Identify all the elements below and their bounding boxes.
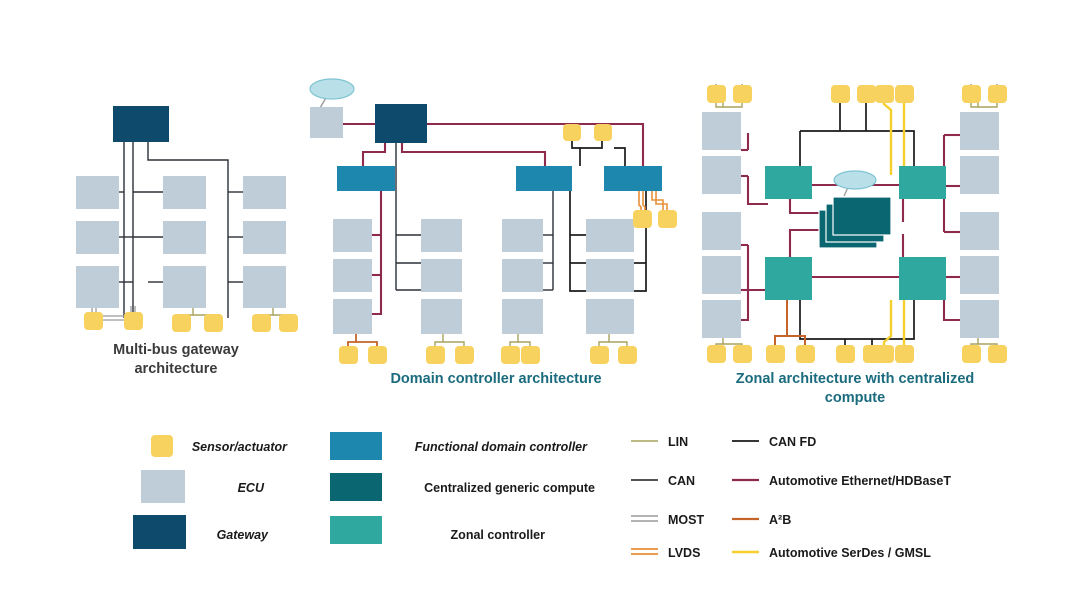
sensor-node[interactable] (339, 346, 358, 364)
panel-title-domain-controller: Domain controller architecture (390, 371, 601, 387)
legend-label-serdes: Automotive SerDes / GMSL (769, 546, 931, 560)
sensor-node[interactable] (172, 314, 191, 332)
legend-swatch-sensor (151, 435, 173, 457)
sensor-node[interactable] (988, 345, 1007, 363)
sensor-node[interactable] (836, 345, 855, 363)
ecu-node[interactable] (163, 176, 206, 209)
ecu-node[interactable] (502, 299, 543, 334)
ecu-node[interactable] (502, 259, 543, 292)
ecu-node[interactable] (243, 266, 286, 308)
ecu-node[interactable] (586, 219, 634, 252)
telematics-ecu-node[interactable] (310, 107, 343, 138)
sensor-node[interactable] (501, 346, 520, 364)
legend-label-can: CAN (668, 474, 695, 488)
zonal-controller-node[interactable] (899, 257, 946, 300)
compute-node-front (833, 197, 891, 235)
legend-label-canfd: CAN FD (769, 435, 816, 449)
sensor-node[interactable] (594, 124, 612, 141)
cloud-icon (834, 171, 876, 189)
sensor-node[interactable] (796, 345, 815, 363)
ecu-node[interactable] (960, 156, 999, 194)
sensor-node[interactable] (766, 345, 785, 363)
sensor-node[interactable] (124, 312, 143, 330)
panel-title-zonal-line1: Zonal architecture with centralized (736, 371, 975, 387)
sensor-node[interactable] (279, 314, 298, 332)
sensor-node[interactable] (962, 345, 981, 363)
ecu-node[interactable] (163, 221, 206, 254)
zonal-controller-node[interactable] (899, 166, 946, 199)
panel-title-multi-bus-line2: architecture (134, 361, 217, 377)
ecu-node[interactable] (702, 212, 741, 250)
zonal-controller-node[interactable] (765, 257, 812, 300)
sensor-node[interactable] (875, 345, 894, 363)
sensor-node[interactable] (368, 346, 387, 364)
ecu-node[interactable] (163, 266, 206, 308)
legend-label-lin: LIN (668, 435, 688, 449)
legend-label-gateway: Gateway (217, 528, 269, 542)
automotive-architecture-diagram: Multi-bus gateway architecture (0, 0, 1080, 607)
sensor-node[interactable] (733, 85, 752, 103)
zonal-controller-node[interactable] (765, 166, 812, 199)
centralized-compute-stack[interactable] (819, 197, 891, 248)
ecu-node[interactable] (333, 259, 372, 292)
panel-title-zonal-line2: compute (825, 390, 885, 406)
domain-controller-node[interactable] (337, 166, 395, 191)
ecu-grid-multi-bus (76, 176, 286, 308)
ecu-node[interactable] (960, 256, 999, 294)
sensor-node[interactable] (707, 345, 726, 363)
sensor-node[interactable] (563, 124, 581, 141)
legend-label-ecu: ECU (238, 481, 265, 495)
ecu-node[interactable] (333, 219, 372, 252)
ecu-node[interactable] (702, 256, 741, 294)
ecu-node[interactable] (960, 112, 999, 150)
sensor-node[interactable] (733, 345, 752, 363)
sensor-node[interactable] (895, 85, 914, 103)
legend-label-most: MOST (668, 513, 704, 527)
legend-swatch-domain-controller (330, 432, 382, 460)
sensor-node[interactable] (988, 85, 1007, 103)
sensor-node[interactable] (204, 314, 223, 332)
ecu-node[interactable] (76, 266, 119, 308)
ecu-node[interactable] (243, 221, 286, 254)
legend-label-automotive-ethernet: Automotive Ethernet/HDBaseT (769, 474, 951, 488)
sensor-node[interactable] (633, 210, 652, 228)
legend-label-sensor: Sensor/actuator (192, 440, 288, 454)
sensor-node[interactable] (590, 346, 609, 364)
legend-swatch-compute (330, 473, 382, 501)
sensor-node[interactable] (426, 346, 445, 364)
ecu-node[interactable] (502, 219, 543, 252)
sensor-node[interactable] (875, 85, 894, 103)
sensor-node[interactable] (84, 312, 103, 330)
ecu-node[interactable] (421, 259, 462, 292)
legend-label-a2b: A²B (769, 513, 791, 527)
sensor-node[interactable] (252, 314, 271, 332)
sensor-node[interactable] (707, 85, 726, 103)
legend-label-domain-controller: Functional domain controller (415, 440, 588, 454)
ecu-node[interactable] (243, 176, 286, 209)
ecu-node[interactable] (421, 299, 462, 334)
ecu-node[interactable] (586, 259, 634, 292)
ecu-node[interactable] (586, 299, 634, 334)
sensor-node[interactable] (895, 345, 914, 363)
legend-swatch-gateway (133, 515, 186, 549)
domain-controller-node[interactable] (604, 166, 662, 191)
sensor-node[interactable] (962, 85, 981, 103)
ecu-node[interactable] (960, 212, 999, 250)
diagram-canvas: Multi-bus gateway architecture (0, 0, 1080, 607)
ecu-node[interactable] (702, 112, 741, 150)
sensor-node[interactable] (658, 210, 677, 228)
sensor-node[interactable] (618, 346, 637, 364)
domain-controller-node[interactable] (516, 166, 572, 191)
ecu-node[interactable] (960, 300, 999, 338)
gateway-node[interactable] (375, 104, 427, 143)
ecu-node[interactable] (333, 299, 372, 334)
ecu-node[interactable] (702, 300, 741, 338)
legend-label-zonal: Zonal controller (451, 528, 546, 542)
cloud-icon (310, 79, 354, 99)
gateway-node[interactable] (113, 106, 169, 142)
ecu-node[interactable] (702, 156, 741, 194)
ecu-node[interactable] (76, 221, 119, 254)
sensor-node[interactable] (831, 85, 850, 103)
panel-title-multi-bus-line1: Multi-bus gateway (113, 342, 239, 358)
sensor-node[interactable] (857, 85, 876, 103)
legend-swatch-zonal (330, 516, 382, 544)
legend-swatch-ecu (141, 470, 185, 503)
sensor-node[interactable] (455, 346, 474, 364)
legend-label-compute: Centralized generic compute (424, 481, 595, 495)
legend-label-lvds: LVDS (668, 546, 700, 560)
sensor-node[interactable] (521, 346, 540, 364)
ecu-node[interactable] (421, 219, 462, 252)
ecu-node[interactable] (76, 176, 119, 209)
